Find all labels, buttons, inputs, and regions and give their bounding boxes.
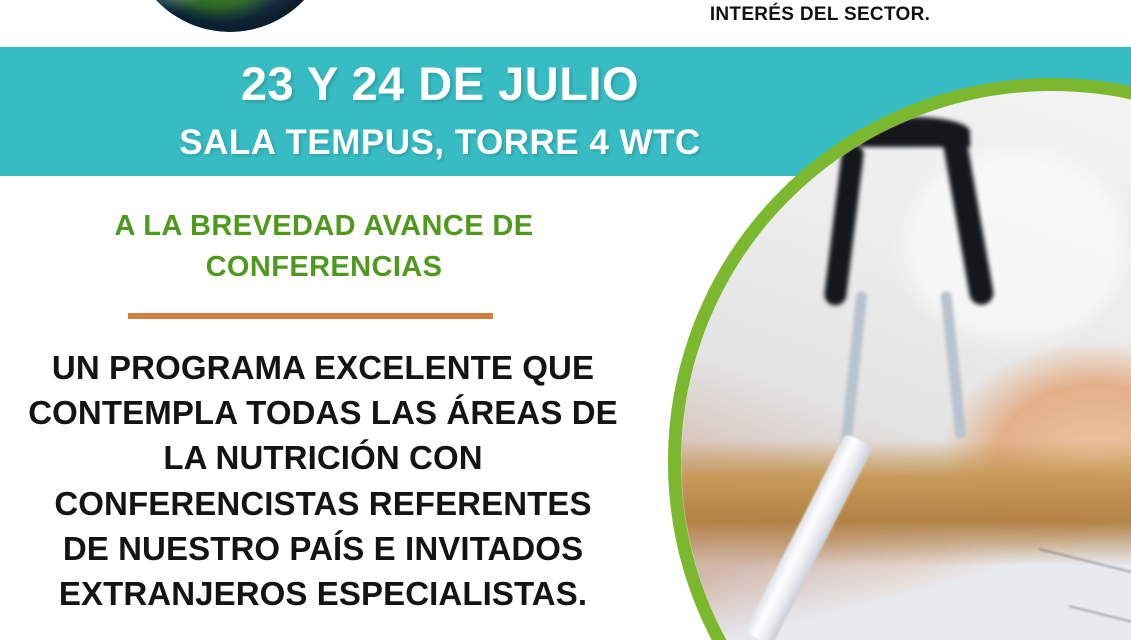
section-subheading: A LA BREVEDAD AVANCE DE CONFERENCIAS [44, 206, 604, 288]
globe-cloud [144, 0, 197, 5]
tagline-text: INTERÉS DEL SECTOR. [600, 4, 1040, 26]
stethoscope-icon [823, 142, 865, 307]
stethoscope-tube [839, 291, 867, 455]
stethoscope-icon [859, 117, 970, 147]
pen-icon [745, 433, 874, 640]
poster-canvas: INTERÉS DEL SECTOR. 23 Y 24 DE JULIO SAL… [0, 0, 1131, 640]
event-date: 23 Y 24 DE JULIO [0, 56, 880, 111]
paper-line [1039, 548, 1131, 586]
orange-divider [128, 313, 493, 319]
earth-globe-image [128, 0, 332, 32]
body-paragraph: UN PROGRAMA EXCELENTE QUE CONTEMPLA TODA… [28, 345, 618, 616]
globe-sphere [128, 0, 332, 32]
event-venue: SALA TEMPUS, TORRE 4 WTC [0, 123, 880, 163]
photo-highlight [904, 150, 1127, 343]
paper-line [1069, 606, 1131, 640]
